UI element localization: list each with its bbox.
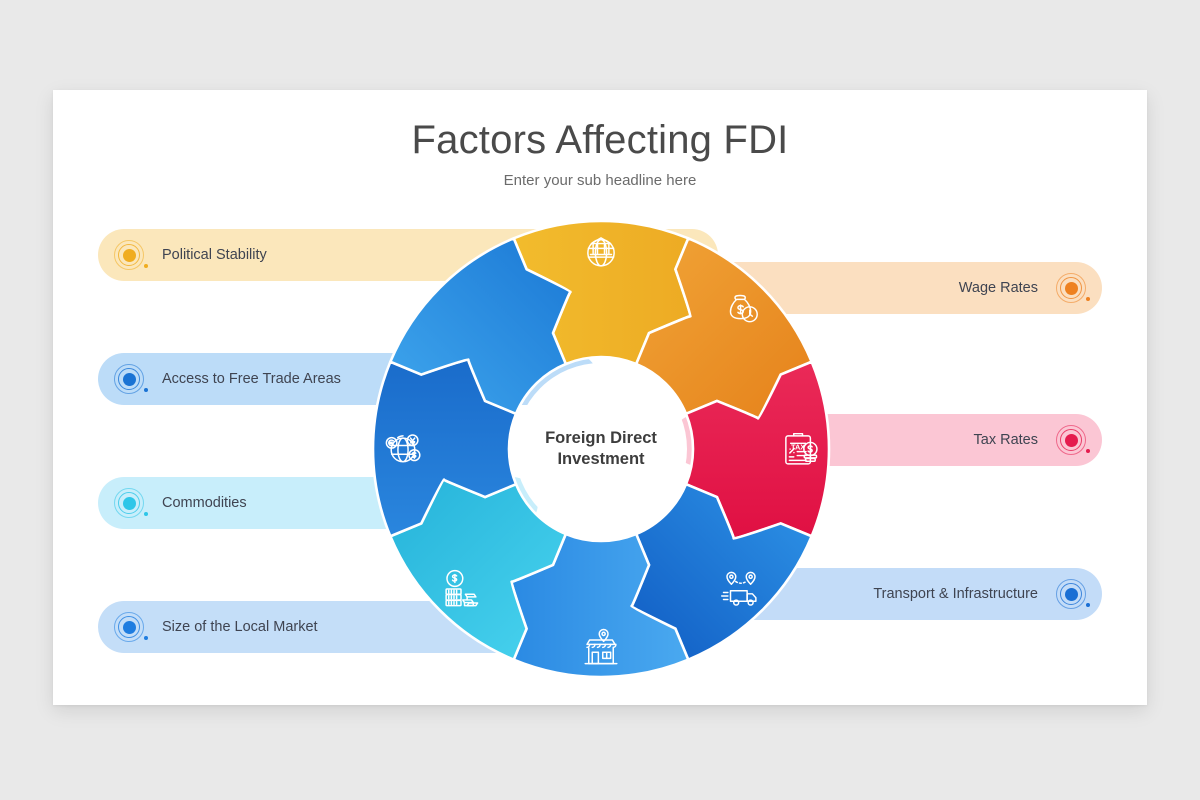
bullet-marker-icon [114,612,144,642]
page-subtitle: Enter your sub headline here [53,172,1147,189]
pill-label: Access to Free Trade Areas [162,371,341,387]
bullet-marker-icon [1056,273,1086,303]
center-hub: Foreign Direct Investment [515,363,687,535]
pill-label: Tax Rates [974,432,1038,448]
bullet-marker-icon [114,488,144,518]
slide-root: Factors Affecting FDI Enter your sub hea… [0,0,1200,800]
pill-label: Wage Rates [959,280,1038,296]
pill-label: Commodities [162,495,247,511]
pill-label: Political Stability [162,247,267,263]
pill-label: Transport & Infrastructure [873,586,1038,602]
bullet-marker-icon [1056,425,1086,455]
slide-card: Factors Affecting FDI Enter your sub hea… [53,90,1147,705]
page-title: Factors Affecting FDI [53,118,1147,163]
fdi-wheel: TAX [371,219,831,679]
bullet-marker-icon [114,364,144,394]
bullet-marker-icon [1056,579,1086,609]
pill-label: Size of the Local Market [162,619,318,635]
bullet-marker-icon [114,240,144,270]
center-hub-label: Foreign Direct Investment [545,428,657,471]
